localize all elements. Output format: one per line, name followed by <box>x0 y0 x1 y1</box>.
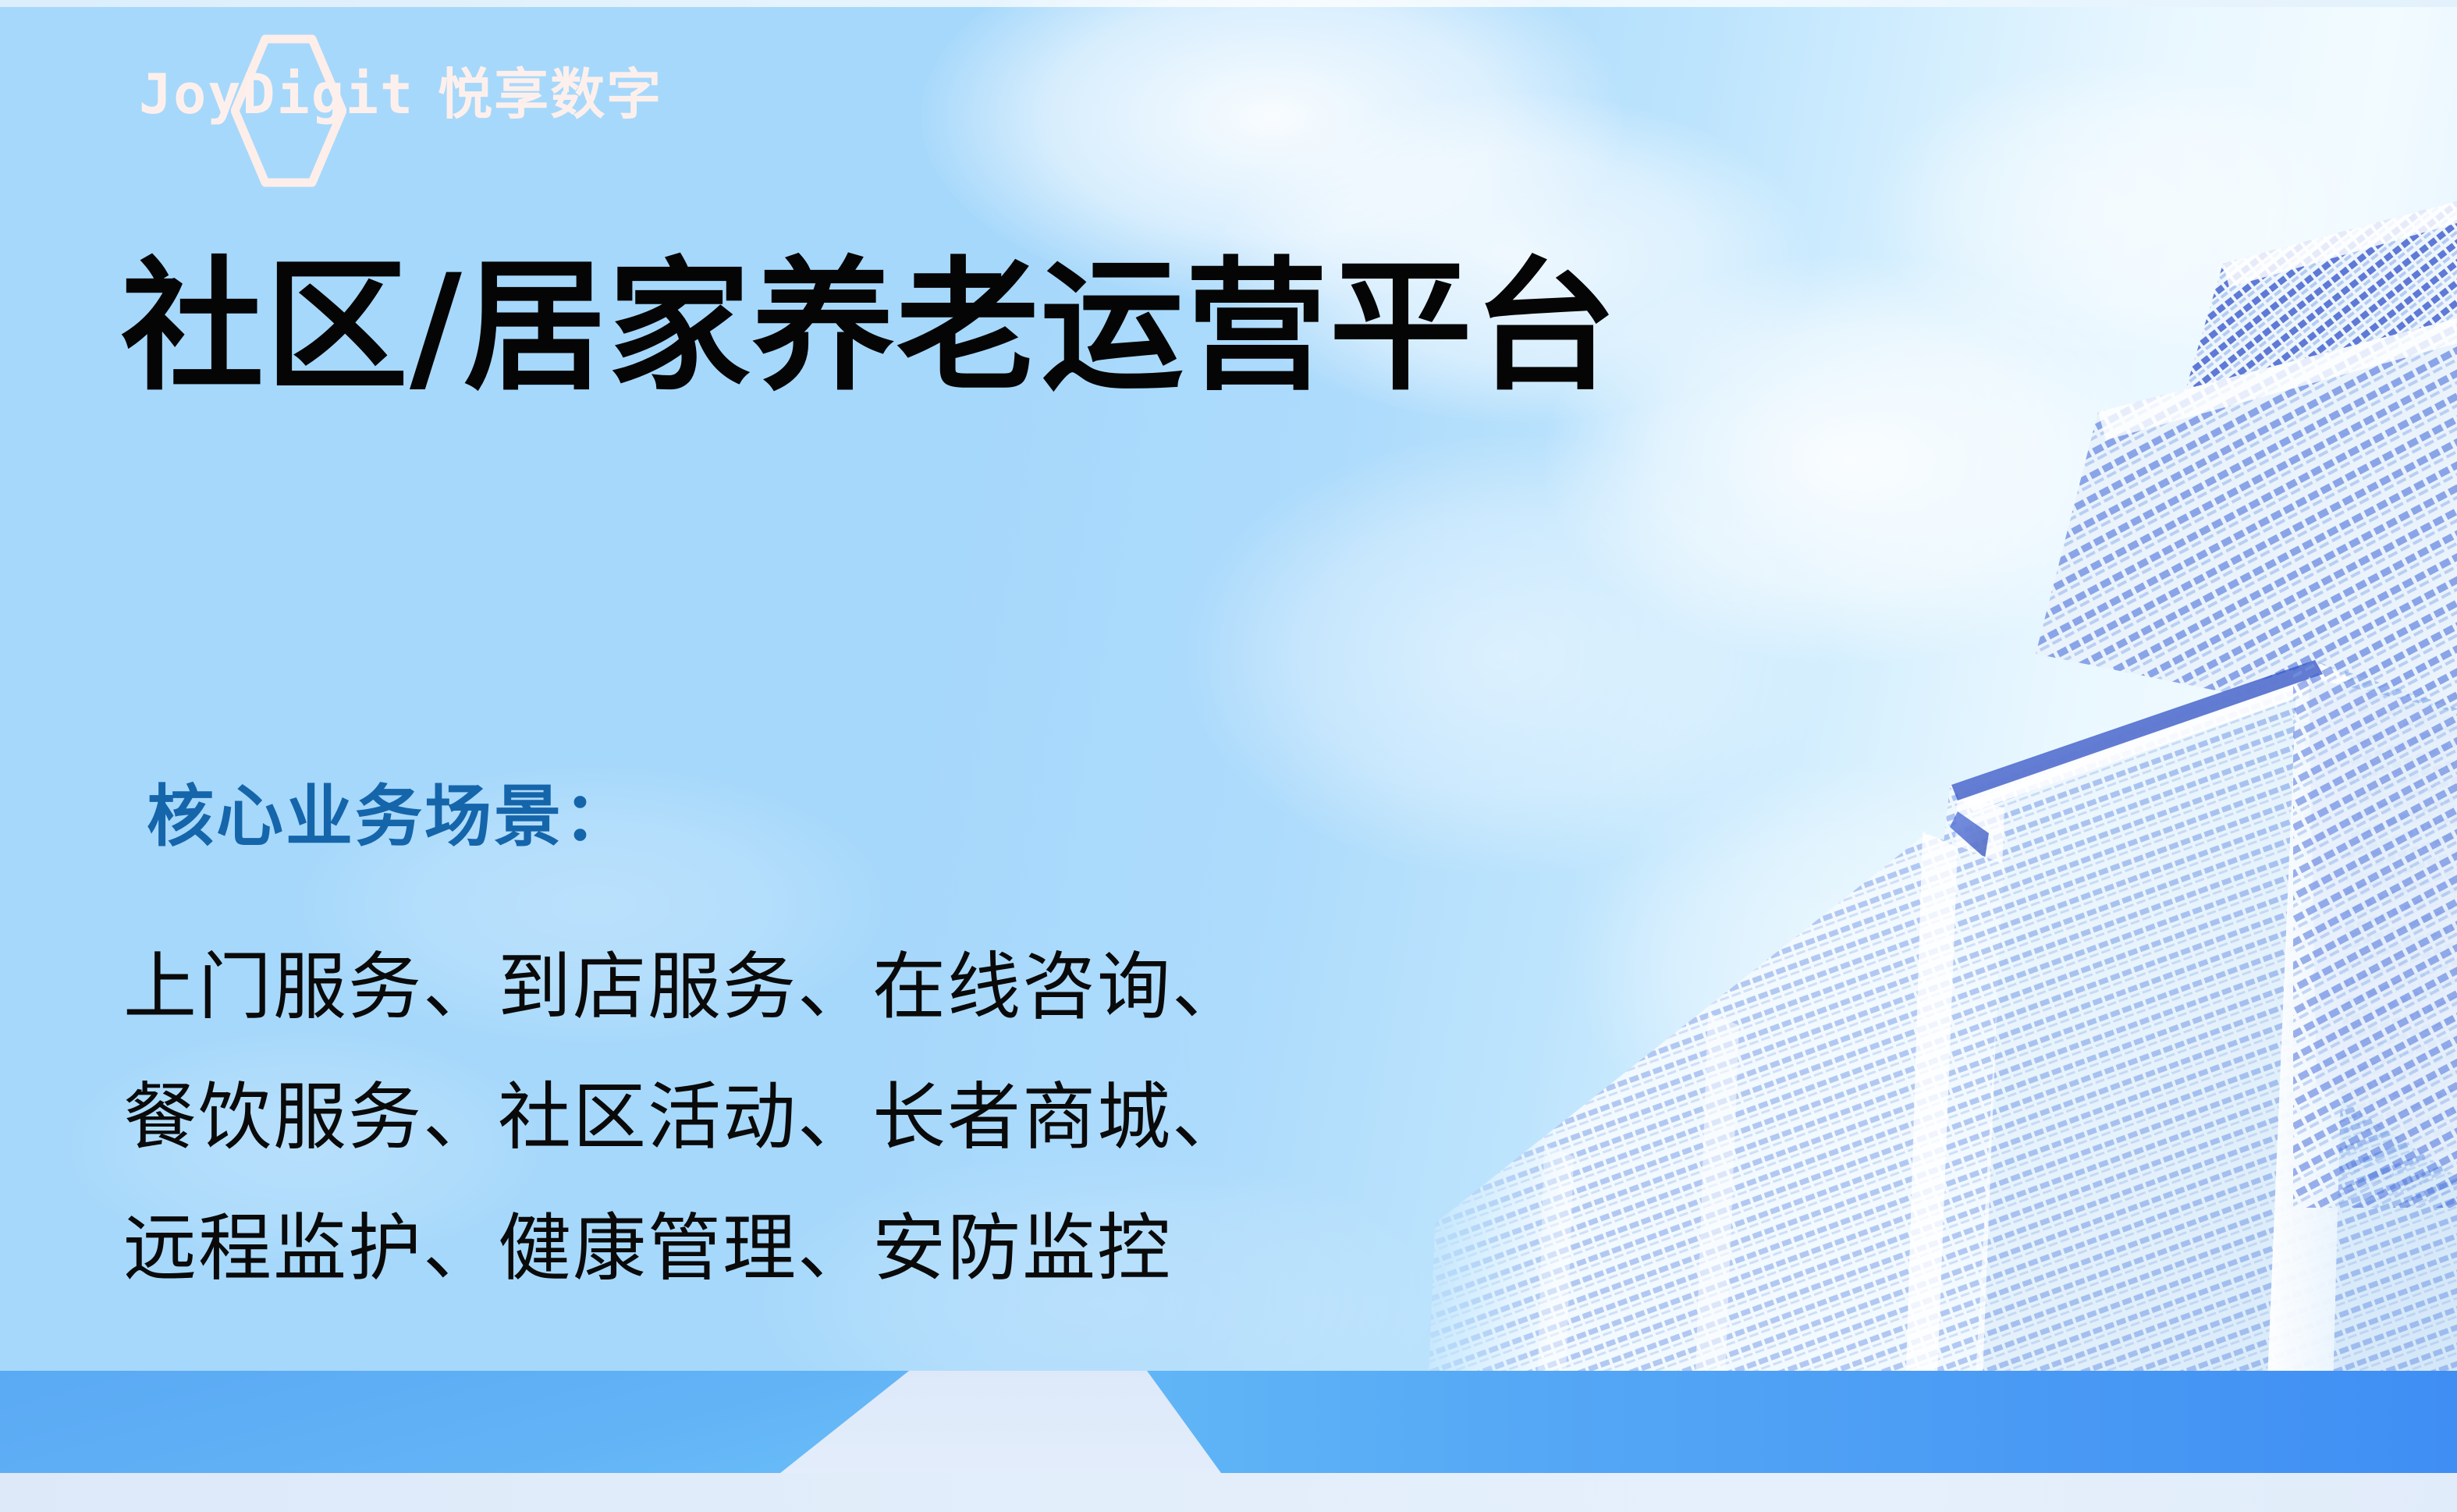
scenario-line: 餐饮服务、社区活动、长者商城、 <box>123 1052 1247 1183</box>
logo-latin-text: JoyDigit <box>139 67 414 122</box>
scenario-list: 上门服务、到店服务、在线咨询、 餐饮服务、社区活动、长者商城、 远程监护、健康管… <box>123 922 1247 1314</box>
scenario-line: 上门服务、到店服务、在线咨询、 <box>123 922 1247 1052</box>
page-title: 社区/居家养老运营平台 <box>121 248 1618 408</box>
logo-cjk-text: 悦享数字 <box>438 67 662 122</box>
section-heading: 核心业务场景： <box>147 780 633 854</box>
scenario-line: 远程监护、健康管理、安防监控 <box>123 1184 1247 1314</box>
bottom-strip <box>0 1473 2457 1512</box>
slide-canvas: JoyDigit 悦享数字 社区/居家养老运营平台 核心业务场景： 上门服务、到… <box>0 0 2457 1512</box>
bottom-decor-band <box>0 1371 2457 1473</box>
skyscraper-building-photo <box>1411 6 2457 1418</box>
brand-logo[interactable]: JoyDigit 悦享数字 <box>139 33 685 189</box>
